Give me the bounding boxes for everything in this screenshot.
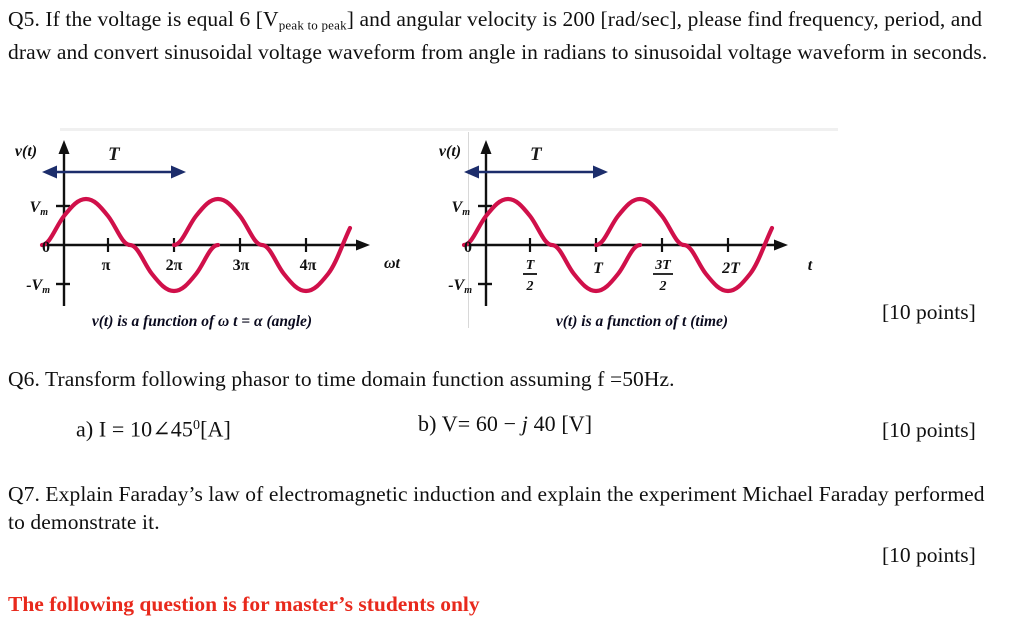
period-label-angle: T [108,144,121,165]
xtick-label-3half-T: 3T 2 [653,258,673,294]
points-q6: [10 points] [882,418,976,443]
q6-part-b-unit: 40 [V] [528,411,592,436]
x-axis-label-angle: ωt [384,255,401,272]
question-q6-part-b: b) V= 60 − j 40 [V] [418,410,592,438]
question-q5-text: Q5. If the voltage is equal 6 [Vpeak to … [8,6,1016,66]
ytick-label-zero-time: 0 [464,239,472,256]
q6-part-b-label: b) [418,411,437,436]
q6-part-a-label: a) [76,417,93,442]
q6-part-a-unit: [A] [200,417,231,442]
waveform-figure-region: T v(t) ωt Vm 0 -Vm π 2π 3π 4π v(t) is a … [8,128,838,332]
xtick-label-2T: 2T [721,260,741,277]
xtick-label-half-T: T 2 [523,258,537,294]
ytick-label-minus-vm-time: -Vm [448,277,472,296]
x-axis-time [464,240,788,251]
x-axis-angle [42,240,370,251]
xtick-label-3pi: 3π [233,257,250,274]
xtick-label-T: T [593,260,604,277]
q5-subscript-peak-to-peak: peak to peak [279,17,347,32]
chart-waveform-time: T v(t) t Vm 0 -Vm T 2 T 3T 2 [420,128,835,332]
period-label-time: T [530,144,543,165]
figure-caption-time: v(t) is a function of t (time) [462,313,822,331]
question-q7-text: Q7. Explain Faraday’s law of electromagn… [8,481,988,536]
q6-part-a-expression: I = 10∠45 [99,417,193,442]
ytick-label-zero-angle: 0 [42,239,50,256]
figure-caption-angle: v(t) is a function of ω t = α (angle) [22,313,382,331]
xtick-label-4pi: 4π [300,257,317,274]
question-q6-part-a: a) I = 10∠450[A] [76,412,231,443]
q6-part-b-expression: V= 60 − [442,411,522,436]
question-q6-text: Q6. Transform following phasor to time d… [8,366,988,394]
svg-text:3T: 3T [654,258,672,273]
points-q5: [10 points] [882,300,976,325]
x-axis-label-time: t [808,257,813,274]
q5-text-part-1: Q5. If the voltage is equal 6 [V [8,7,279,31]
svg-text:2: 2 [659,279,667,294]
chart-waveform-angle: T v(t) ωt Vm 0 -Vm π 2π 3π 4π v(t) is a … [8,128,423,332]
ytick-label-minus-vm-angle: -Vm [26,277,50,296]
svg-text:2: 2 [526,279,534,294]
exam-page: Q5. If the voltage is equal 6 [Vpeak to … [0,0,1024,612]
y-axis-label-angle: v(t) [15,143,37,160]
ytick-label-vm-time: Vm [452,199,471,218]
points-q7: [10 points] [882,543,976,568]
master-students-note: The following question is for master’s s… [8,592,480,617]
y-axis-label-time: v(t) [439,143,461,160]
svg-text:T: T [526,258,536,273]
xtick-label-2pi: 2π [166,257,183,274]
ytick-label-vm-angle: Vm [30,199,49,218]
xtick-label-pi: π [102,257,111,274]
